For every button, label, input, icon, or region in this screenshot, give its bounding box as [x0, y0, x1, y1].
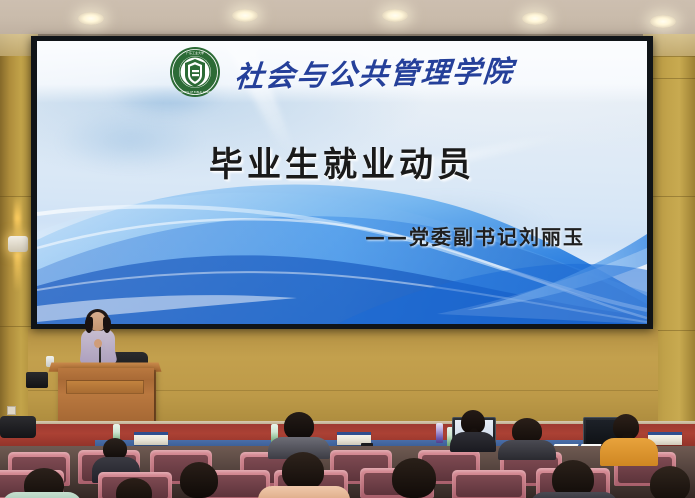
presentation-screen: 广东工业大学 SCHOOL OF PUBLIC ADMIN 社会与公共管理学院 … [37, 41, 647, 324]
audience-shoulders-4 [450, 432, 496, 452]
svg-text:广东工业大学: 广东工业大学 [186, 50, 204, 55]
lecture-hall-photo: 广东工业大学 SCHOOL OF PUBLIC ADMIN 社会与公共管理学院 … [0, 0, 695, 498]
downlight-2 [232, 9, 258, 22]
sconce-glow-lower [14, 252, 21, 292]
slide-title: 毕业生就业动员 [37, 137, 647, 186]
downlight-5 [650, 15, 676, 28]
university-seal-icon: 广东工业大学 SCHOOL OF PUBLIC ADMIN [169, 46, 221, 98]
audience-head-2 [284, 412, 314, 440]
svg-text:SCHOOL OF PUBLIC ADMIN: SCHOOL OF PUBLIC ADMIN [180, 91, 211, 94]
downlight-1 [78, 12, 104, 25]
audience-head-front-2 [180, 462, 218, 498]
audience-shoulders-front-5 [530, 492, 618, 498]
seat-cushion [456, 475, 522, 497]
presenter-hand [94, 339, 102, 348]
wall-sconce-light [8, 236, 28, 252]
name-placard-1 [134, 432, 168, 445]
downlight-4 [522, 12, 548, 25]
presenter-hair-left [85, 317, 93, 333]
led-screen-bezel: 广东工业大学 SCHOOL OF PUBLIC ADMIN 社会与公共管理学院 … [31, 36, 653, 329]
sconce-glow-upper [14, 196, 21, 240]
lectern-front-panel [66, 380, 144, 394]
audience-shoulders-3 [498, 440, 556, 460]
bag-on-table [0, 416, 36, 438]
audience-shoulders-front-3 [258, 486, 350, 498]
stage-equipment-box [26, 372, 48, 388]
audience-head-front-4 [392, 458, 436, 498]
seal-svg: 广东工业大学 SCHOOL OF PUBLIC ADMIN [169, 46, 221, 98]
school-name-text: 社会与公共管理学院 [233, 48, 516, 96]
wall-outlet [7, 406, 16, 415]
slide-subtitle-presenter: ——党委副书记刘丽玉 [365, 221, 585, 250]
audience-shoulders-5 [600, 438, 658, 466]
audience-head-front-6 [650, 466, 690, 498]
presenter-hair-right [103, 317, 111, 333]
slide-header: 广东工业大学 SCHOOL OF PUBLIC ADMIN 社会与公共管理学院 [37, 41, 647, 103]
downlight-3 [382, 9, 408, 22]
audience-head-front-3 [282, 452, 324, 490]
water-bottle-3 [436, 423, 443, 443]
audience-shoulders-front-1 [2, 492, 82, 498]
seat-front-6 [452, 470, 526, 498]
